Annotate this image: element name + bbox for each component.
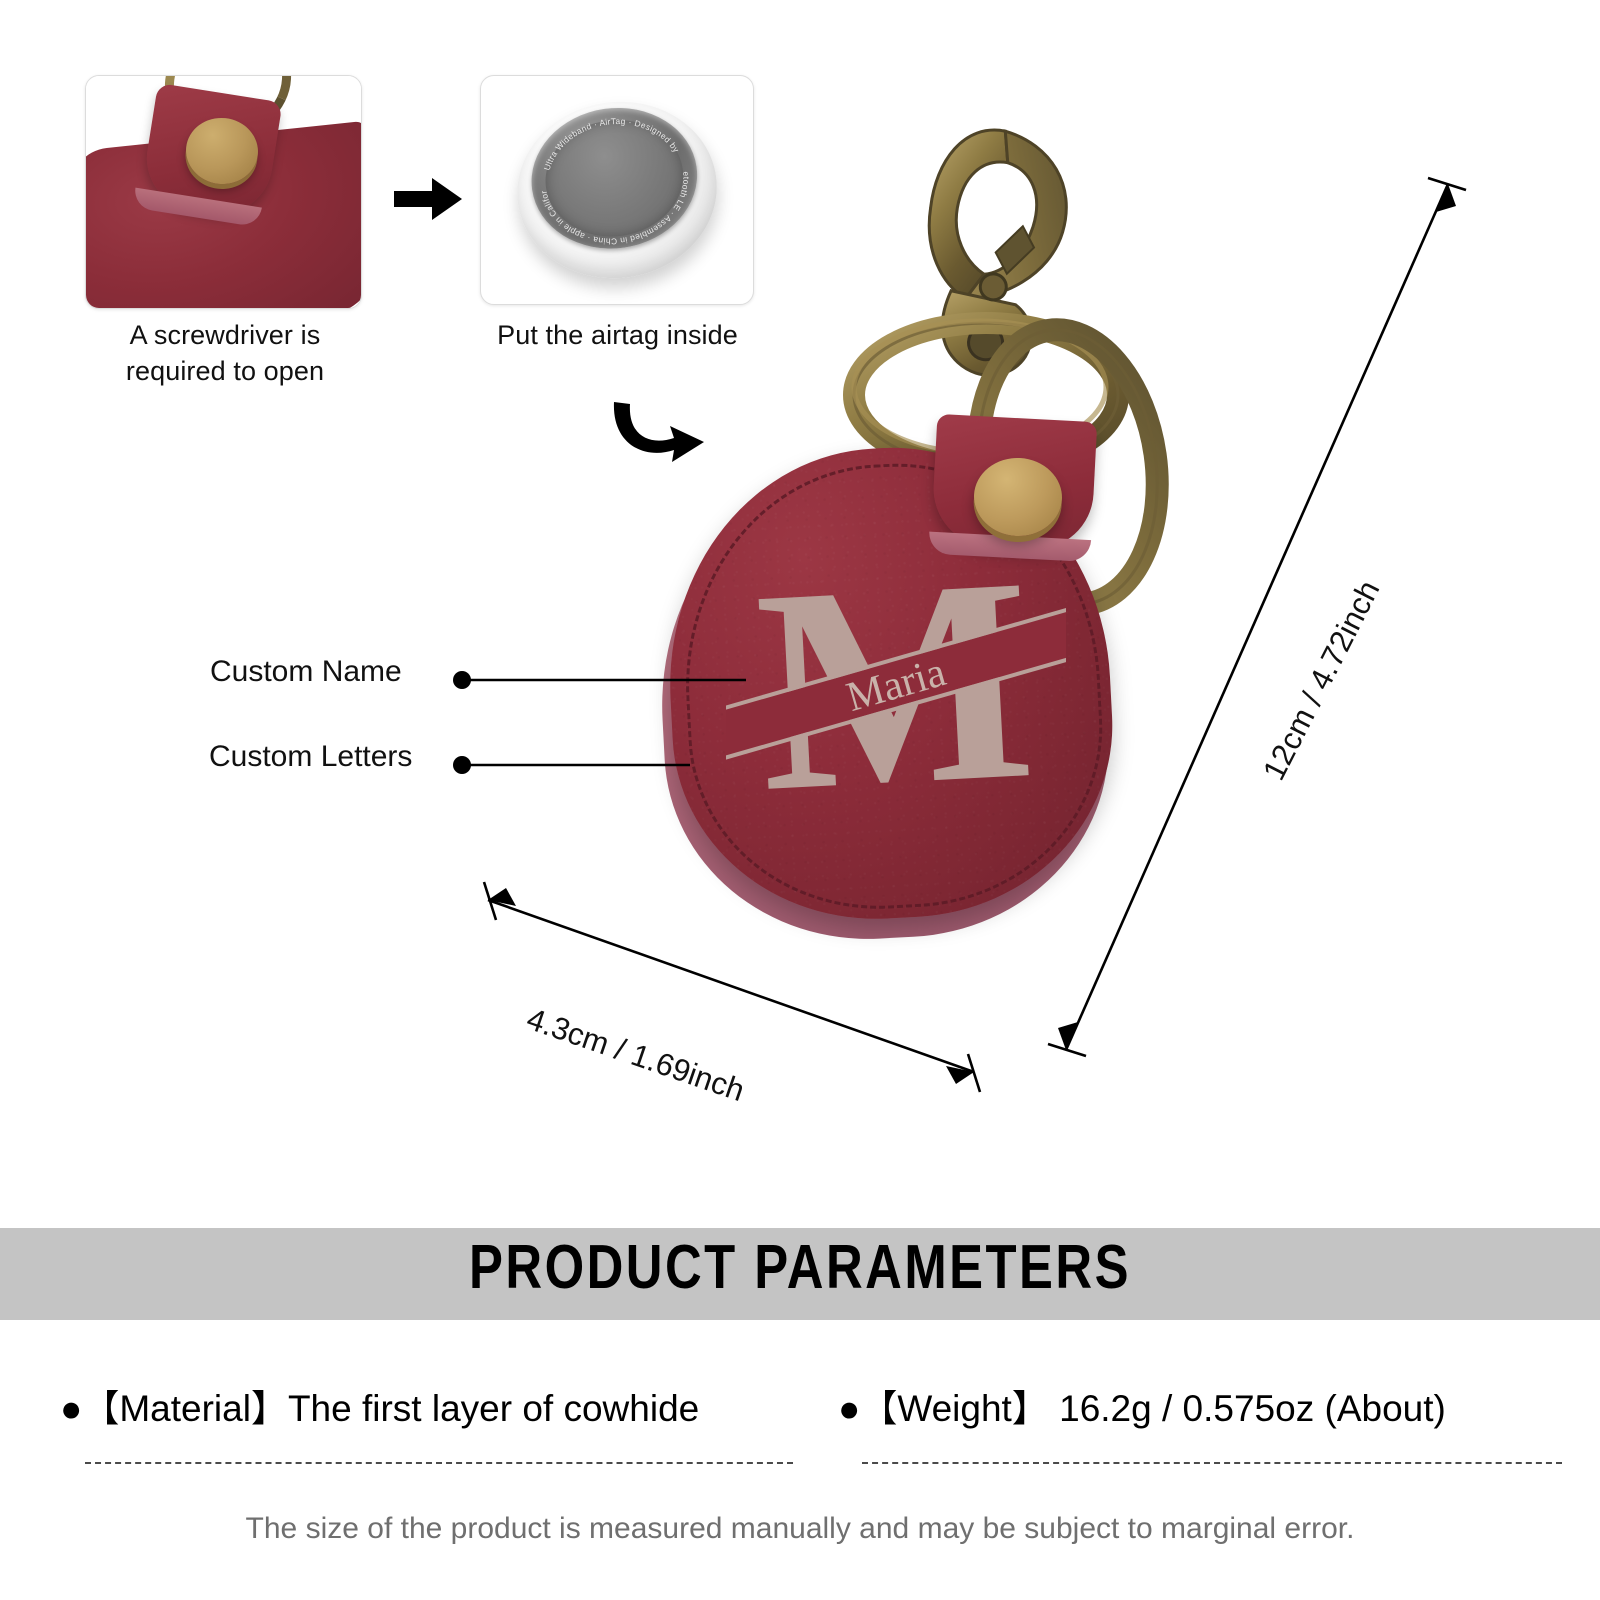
dimension-height — [1048, 178, 1466, 1056]
spec-divider-left — [85, 1462, 793, 1464]
caption-line-1: A screwdriver is — [60, 318, 390, 354]
disclaimer-footnote: The size of the product is measured manu… — [0, 1512, 1600, 1546]
callout-label-custom-letters: Custom Letters — [209, 740, 412, 774]
caption-screwdriver-step: A screwdriver is required to open — [60, 318, 390, 389]
spec-material: ●【Material】The first layer of cowhide — [60, 1378, 699, 1432]
product-parameters-title: PRODUCT PARAMETERS — [144, 1232, 1456, 1303]
infographic-stage: A screwdriver is required to open Ultra … — [0, 0, 1600, 1600]
dimension-width — [484, 882, 980, 1092]
thumbnail-screwdriver-step — [85, 75, 362, 309]
spec-weight: ●【Weight】 16.2g / 0.575oz (About) — [838, 1378, 1446, 1432]
thumbnail-open-photo — [86, 76, 361, 308]
dimension-lines — [440, 150, 1580, 1130]
callout-label-custom-name: Custom Name — [210, 655, 402, 689]
caption-line-2: required to open — [60, 354, 390, 390]
spec-divider-right — [862, 1462, 1562, 1464]
